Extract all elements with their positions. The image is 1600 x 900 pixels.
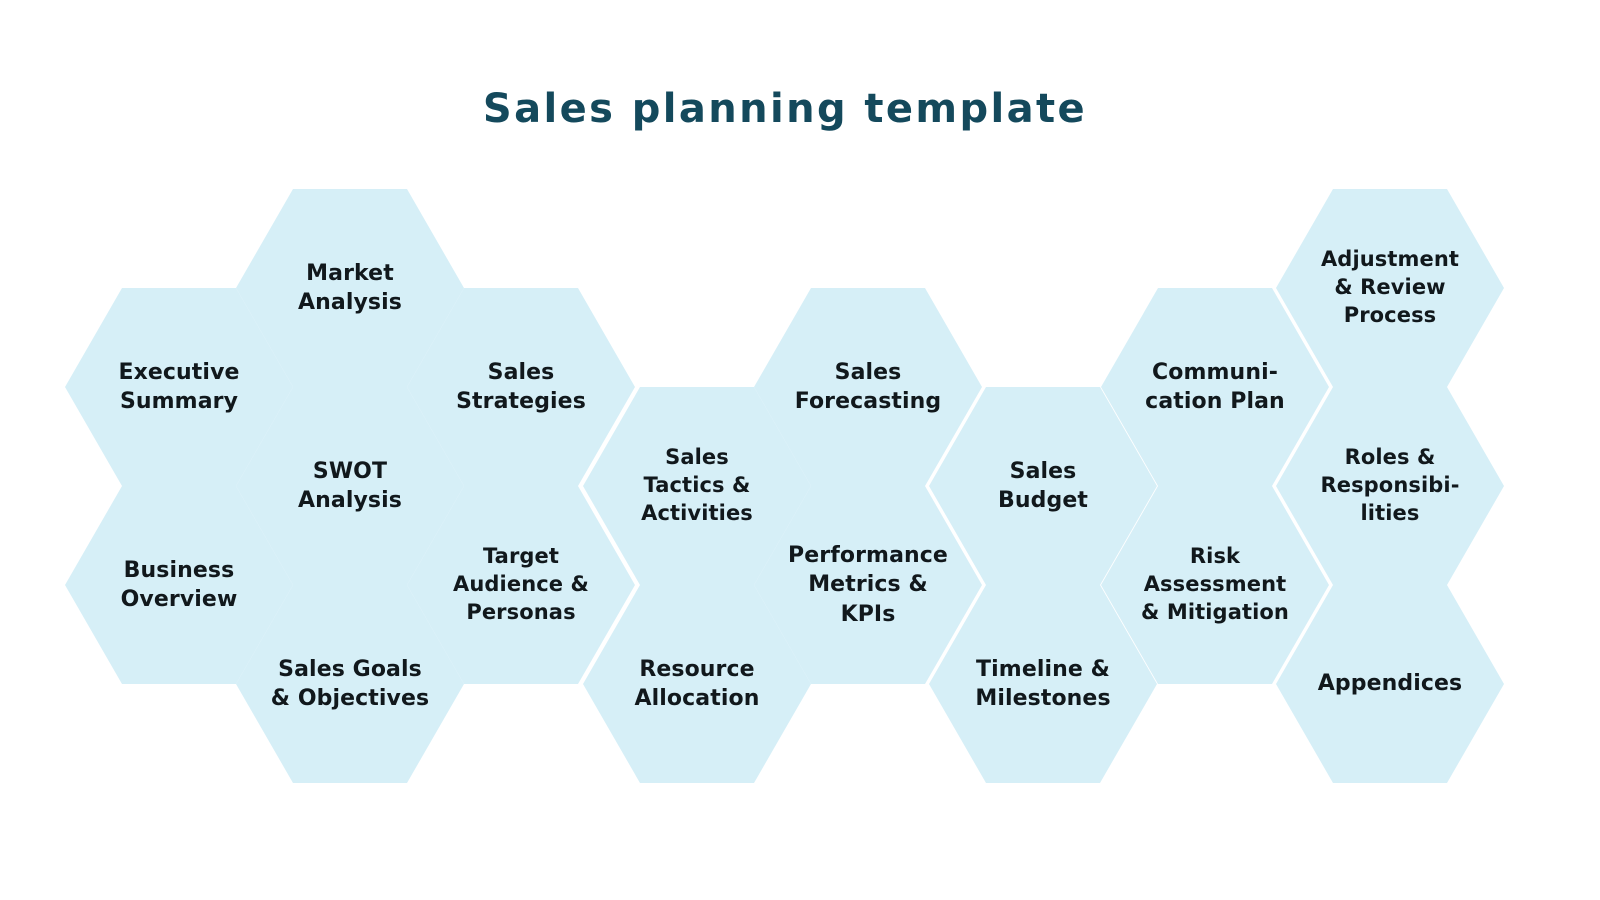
hex-label-appendices: Appendices: [1306, 669, 1474, 698]
hex-label-market-analysis: Market Analysis: [266, 259, 434, 318]
hex-label-sales-forecasting: Sales Forecasting: [784, 358, 952, 417]
hex-label-sales-budget: Sales Budget: [959, 457, 1127, 516]
hex-label-communication-plan: Communi- cation Plan: [1131, 358, 1299, 417]
sales-planning-template-page: Sales planning template Executive Summar…: [0, 0, 1600, 900]
hex-label-business-overview: Business Overview: [95, 556, 263, 615]
hex-label-adjustment-review-process: Adjustment & Review Process: [1306, 246, 1474, 330]
hex-label-timeline-milestones: Timeline & Milestones: [959, 655, 1127, 714]
hex-label-risk-assessment-mitigation: Risk Assessment & Mitigation: [1131, 543, 1299, 627]
hex-label-executive-summary: Executive Summary: [95, 358, 263, 417]
hex-label-sales-strategies: Sales Strategies: [437, 358, 605, 417]
hex-label-sales-tactics-activities: Sales Tactics & Activities: [613, 444, 781, 528]
hex-label-target-audience-personas: Target Audience & Personas: [437, 543, 605, 627]
hex-label-sales-goals-objectives: Sales Goals & Objectives: [266, 655, 434, 714]
hex-label-resource-allocation: Resource Allocation: [613, 655, 781, 714]
hex-label-roles-responsibilities: Roles & Responsibi- lities: [1306, 444, 1474, 528]
hex-label-performance-metrics-kpis: Performance Metrics & KPIs: [784, 541, 952, 629]
hex-label-swot-analysis: SWOT Analysis: [266, 457, 434, 516]
honeycomb-diagram: Executive SummaryBusiness OverviewMarket…: [0, 0, 1600, 900]
